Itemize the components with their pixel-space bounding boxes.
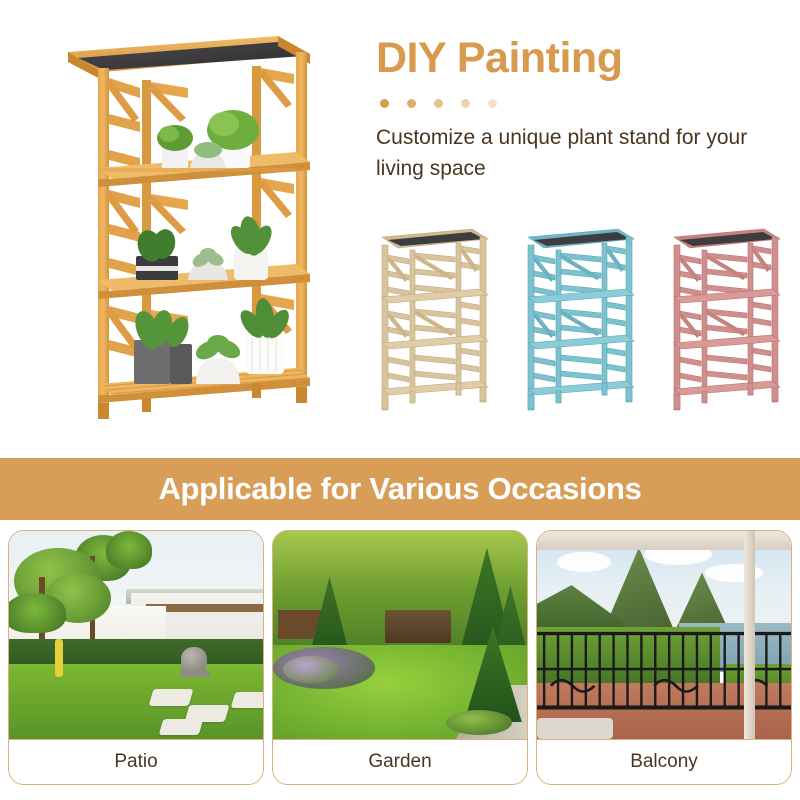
- dot-divider: [380, 99, 776, 108]
- beige-natural-variant: [372, 219, 496, 424]
- product-showcase-section: DIY Painting Customize a unique plant st…: [0, 0, 800, 458]
- divider-dot-4: [461, 99, 470, 108]
- patio-caption: Patio: [9, 739, 263, 784]
- divider-dot-2: [407, 99, 416, 108]
- banner-title: Applicable for Various Occasions: [158, 471, 641, 507]
- occasion-cards-row: Patio Garden: [0, 530, 800, 792]
- headline-title: DIY Painting: [376, 36, 776, 81]
- plant-stand-illustration: [38, 18, 338, 430]
- variant-stand-blue: [518, 219, 642, 424]
- balcony-photo: [537, 531, 791, 739]
- divider-dot-5: [488, 99, 497, 108]
- hero-product-image: [38, 18, 338, 430]
- diy-painting-text-block: DIY Painting Customize a unique plant st…: [376, 36, 776, 184]
- balcony-card[interactable]: Balcony: [536, 530, 792, 785]
- balcony-caption: Balcony: [537, 739, 791, 784]
- patio-photo: [9, 531, 263, 739]
- occasions-banner: Applicable for Various Occasions: [0, 458, 800, 520]
- variant-stand-pink: [664, 219, 788, 424]
- garden-caption: Garden: [273, 739, 527, 784]
- divider-dot-3: [434, 99, 443, 108]
- pink-variant: [664, 219, 788, 424]
- headline-subtitle: Customize a unique plant stand for your …: [376, 122, 776, 184]
- garden-photo: [273, 531, 527, 739]
- divider-dot-1: [380, 99, 389, 108]
- blue-variant: [518, 219, 642, 424]
- variant-stand-beige: [372, 219, 496, 424]
- patio-card[interactable]: Patio: [8, 530, 264, 785]
- garden-card[interactable]: Garden: [272, 530, 528, 785]
- color-variants-row: [372, 208, 788, 424]
